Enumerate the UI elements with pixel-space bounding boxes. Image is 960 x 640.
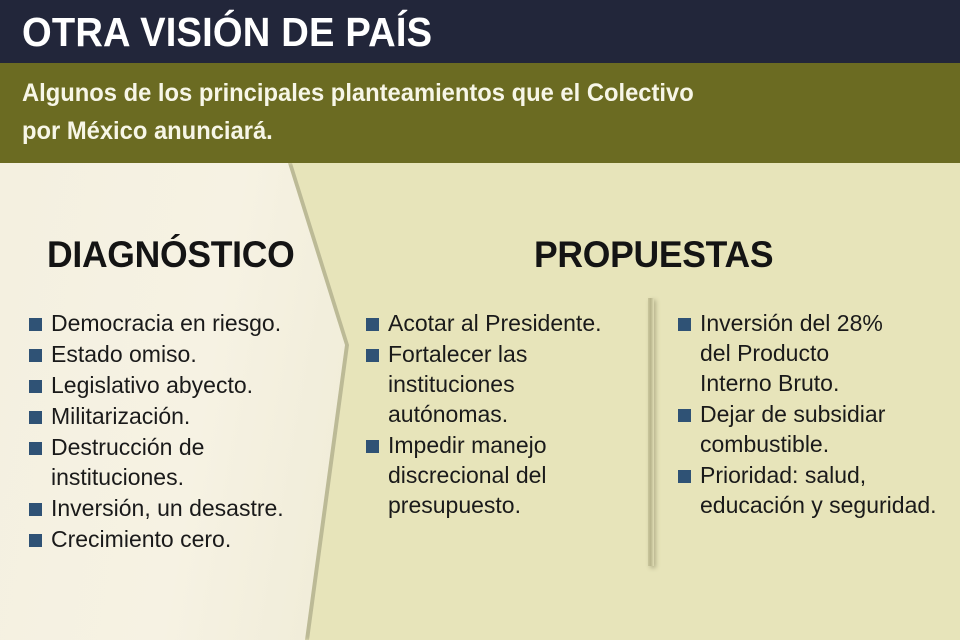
list-item: Militarización. <box>29 401 309 431</box>
bullet-square-icon <box>29 411 42 424</box>
bullet-square-icon <box>678 409 691 422</box>
list-item: Prioridad: salud, educación y seguridad. <box>678 460 946 520</box>
list-item: Fortalecer las instituciones autónomas. <box>366 339 616 429</box>
column-divider <box>648 298 654 566</box>
list-item-label: Inversión del 28% del Producto Interno B… <box>700 308 946 398</box>
list-item: Acotar al Presidente. <box>366 308 616 338</box>
list-item: Legislativo abyecto. <box>29 370 309 400</box>
subtitle-band: Algunos de los principales planteamiento… <box>0 63 960 163</box>
list-item-label: Prioridad: salud, educación y seguridad. <box>700 460 946 520</box>
bullet-square-icon <box>29 442 42 455</box>
list-item: Dejar de subsidiar combustible. <box>678 399 946 459</box>
bullet-square-icon <box>29 534 42 547</box>
bullet-square-icon <box>29 380 42 393</box>
list-item-label: Fortalecer las instituciones autónomas. <box>388 339 616 429</box>
bullet-square-icon <box>366 349 379 362</box>
list-item-label: Inversión, un desastre. <box>51 493 309 523</box>
bullet-square-icon <box>366 318 379 331</box>
list-item: Democracia en riesgo. <box>29 308 309 338</box>
list-item: Estado omiso. <box>29 339 309 369</box>
list-item-label: Democracia en riesgo. <box>51 308 309 338</box>
bullet-list-diagnostico: Democracia en riesgo.Estado omiso.Legisl… <box>29 308 309 555</box>
page-subtitle: Algunos de los principales planteamiento… <box>22 74 877 150</box>
list-item: Crecimiento cero. <box>29 524 309 554</box>
list-item-label: Destrucción de instituciones. <box>51 432 309 492</box>
bullet-square-icon <box>678 470 691 483</box>
list-item: Inversión del 28% del Producto Interno B… <box>678 308 946 398</box>
column-heading-diagnostico: DIAGNÓSTICO <box>47 233 294 277</box>
page-title: OTRA VISIÓN DE PAÍS <box>22 6 432 58</box>
bullet-square-icon <box>29 318 42 331</box>
list-item-label: Dejar de subsidiar combustible. <box>700 399 946 459</box>
bullet-square-icon <box>678 318 691 331</box>
column-heading-propuestas: PROPUESTAS <box>534 233 773 277</box>
body-area: DIAGNÓSTICO PROPUESTAS Democracia en rie… <box>0 163 960 640</box>
infographic-root: OTRA VISIÓN DE PAÍS Algunos de los princ… <box>0 0 960 640</box>
bullet-square-icon <box>29 349 42 362</box>
list-item-label: Militarización. <box>51 401 309 431</box>
list-item-label: Crecimiento cero. <box>51 524 309 554</box>
list-item: Inversión, un desastre. <box>29 493 309 523</box>
list-item-label: Legislativo abyecto. <box>51 370 309 400</box>
list-item-label: Acotar al Presidente. <box>388 308 616 338</box>
list-item-label: Estado omiso. <box>51 339 309 369</box>
bullet-list-propuestas-right: Inversión del 28% del Producto Interno B… <box>678 308 946 521</box>
list-item: Impedir manejo discrecional del presupue… <box>366 430 616 520</box>
list-item-label: Impedir manejo discrecional del presupue… <box>388 430 616 520</box>
bullet-square-icon <box>29 503 42 516</box>
bullet-square-icon <box>366 440 379 453</box>
title-band: OTRA VISIÓN DE PAÍS <box>0 0 960 63</box>
bullet-list-propuestas-left: Acotar al Presidente.Fortalecer las inst… <box>366 308 616 521</box>
list-item: Destrucción de instituciones. <box>29 432 309 492</box>
